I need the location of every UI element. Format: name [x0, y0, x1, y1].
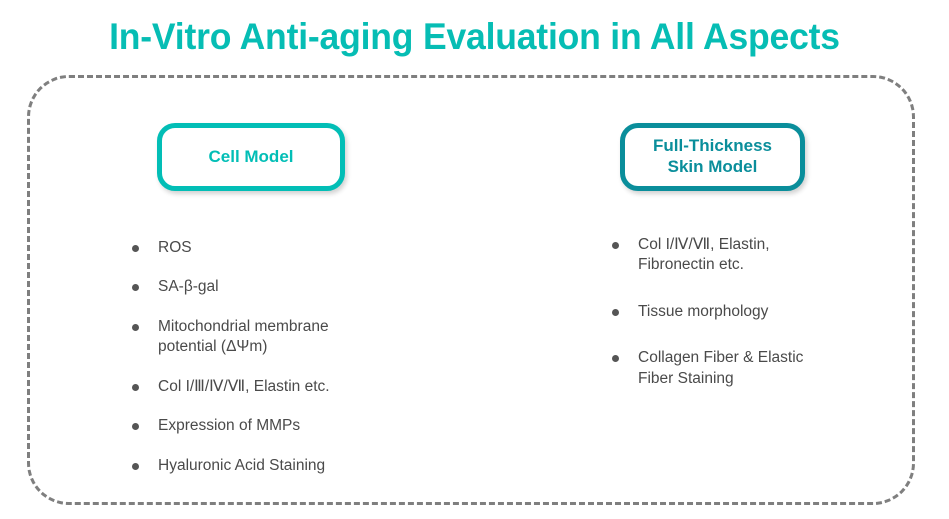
list-item: Hyaluronic Acid Staining [128, 456, 458, 476]
bullet-list-cell-model: ROS SA-β-gal Mitochondrial membrane pote… [128, 238, 458, 495]
bullet-dot-icon [132, 423, 139, 430]
bullet-dot-icon [612, 242, 619, 249]
bullet-dot-icon [132, 463, 139, 470]
bullet-dot-icon [132, 324, 139, 331]
bullet-dot-icon [132, 245, 139, 252]
list-item-label: Col I/Ⅲ/Ⅳ/Ⅶ, Elastin etc. [158, 377, 458, 397]
bullet-dot-icon [132, 284, 139, 291]
model-header-full-thickness-skin-model[interactable]: Full-Thickness Skin Model [620, 123, 805, 191]
list-item: Mitochondrial membrane potential (ΔΨm) [128, 317, 458, 358]
list-item-label: Collagen Fiber & Elastic Fiber Staining [638, 348, 908, 389]
page-title: In-Vitro Anti-aging Evaluation in All As… [19, 16, 930, 58]
list-item: ROS [128, 238, 458, 258]
list-item-label: Expression of MMPs [158, 416, 458, 436]
model-header-label: Full-Thickness Skin Model [653, 136, 772, 177]
model-header-label: Cell Model [208, 147, 293, 168]
list-item: Collagen Fiber & Elastic Fiber Staining [608, 348, 908, 389]
list-item-label: Mitochondrial membrane potential (ΔΨm) [158, 317, 458, 358]
list-item-label: SA-β-gal [158, 277, 458, 297]
bullet-dot-icon [612, 309, 619, 316]
list-item-label: Hyaluronic Acid Staining [158, 456, 458, 476]
list-item: Col I/Ⅳ/Ⅶ, Elastin, Fibronectin etc. [608, 235, 908, 276]
list-item: Expression of MMPs [128, 416, 458, 436]
bullet-dot-icon [612, 355, 619, 362]
list-item-label: ROS [158, 238, 458, 258]
list-item-label: Tissue morphology [638, 302, 908, 322]
list-item-label: Col I/Ⅳ/Ⅶ, Elastin, Fibronectin etc. [638, 235, 908, 276]
model-header-cell-model[interactable]: Cell Model [157, 123, 345, 191]
bullet-list-full-thickness-skin-model: Col I/Ⅳ/Ⅶ, Elastin, Fibronectin etc. Tis… [608, 235, 908, 415]
list-item: Col I/Ⅲ/Ⅳ/Ⅶ, Elastin etc. [128, 377, 458, 397]
list-item: SA-β-gal [128, 277, 458, 297]
list-item: Tissue morphology [608, 302, 908, 322]
bullet-dot-icon [132, 384, 139, 391]
slide-canvas: In-Vitro Anti-aging Evaluation in All As… [0, 0, 949, 519]
